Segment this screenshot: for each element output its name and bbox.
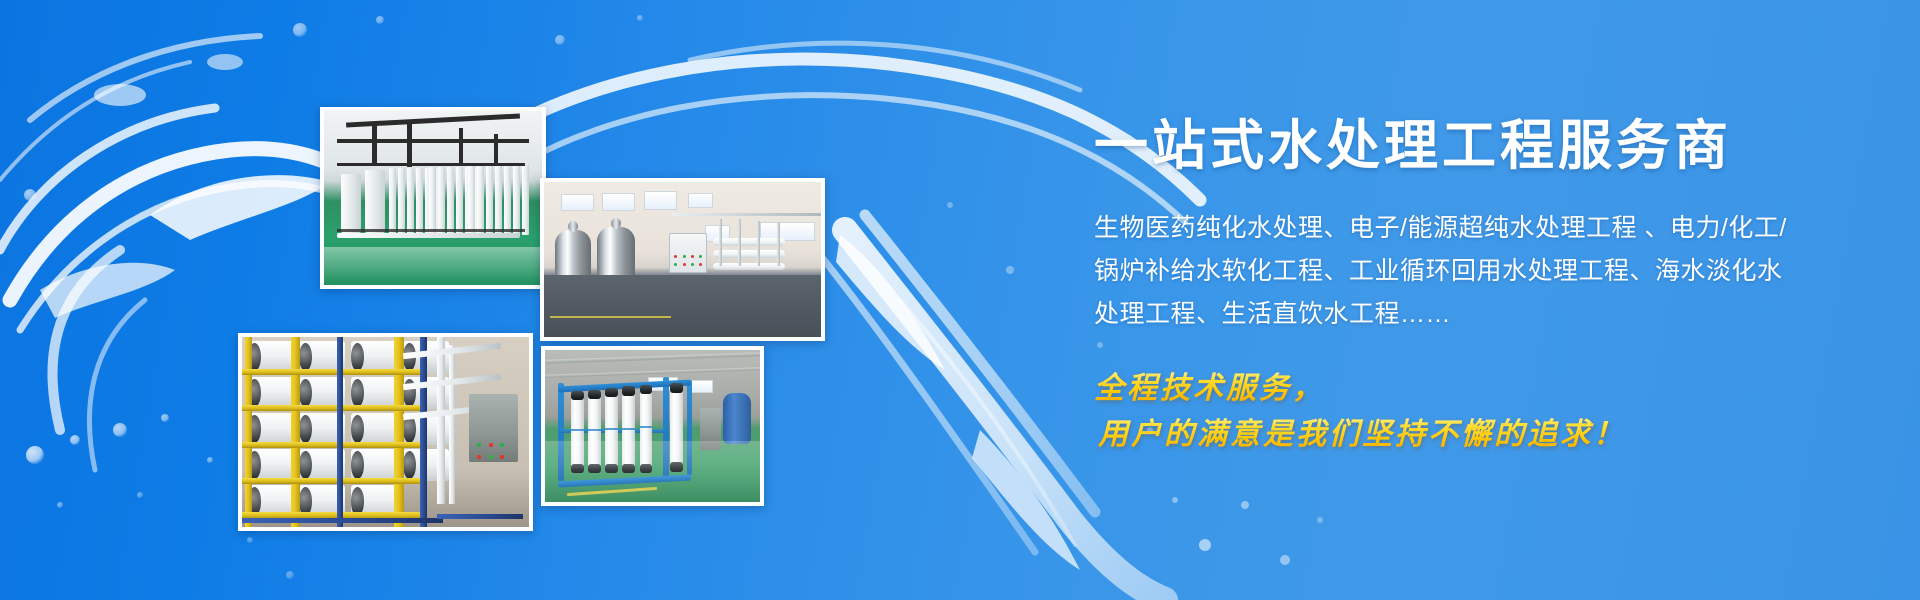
project-photo-collage (0, 0, 900, 600)
slogan-line-1: 全程技术服务， (1094, 366, 1854, 413)
page-title: 一站式水处理工程服务商 (1094, 118, 1854, 175)
service-description: 生物医药纯化水处理、电子/能源超纯水处理工程 、电力/化工/锅炉补给水软化工程、… (1094, 207, 1794, 336)
water-treatment-hero-banner: 一站式水处理工程服务商 生物医药纯化水处理、电子/能源超纯水处理工程 、电力/化… (0, 0, 1920, 600)
photo-blue-frame-skid (541, 346, 764, 506)
photo-ro-tanks-hall (540, 178, 825, 341)
hero-text-column: 一站式水处理工程服务商 生物医药纯化水处理、电子/能源超纯水处理工程 、电力/化… (1094, 118, 1854, 459)
company-slogan: 全程技术服务， 用户的满意是我们坚持不懈的追求！ (1094, 366, 1854, 459)
photo-uf-membrane-plant (320, 107, 546, 289)
photo-ro-array-pipes (238, 333, 533, 531)
slogan-line-2: 用户的满意是我们坚持不懈的追求！ (1098, 412, 1854, 459)
